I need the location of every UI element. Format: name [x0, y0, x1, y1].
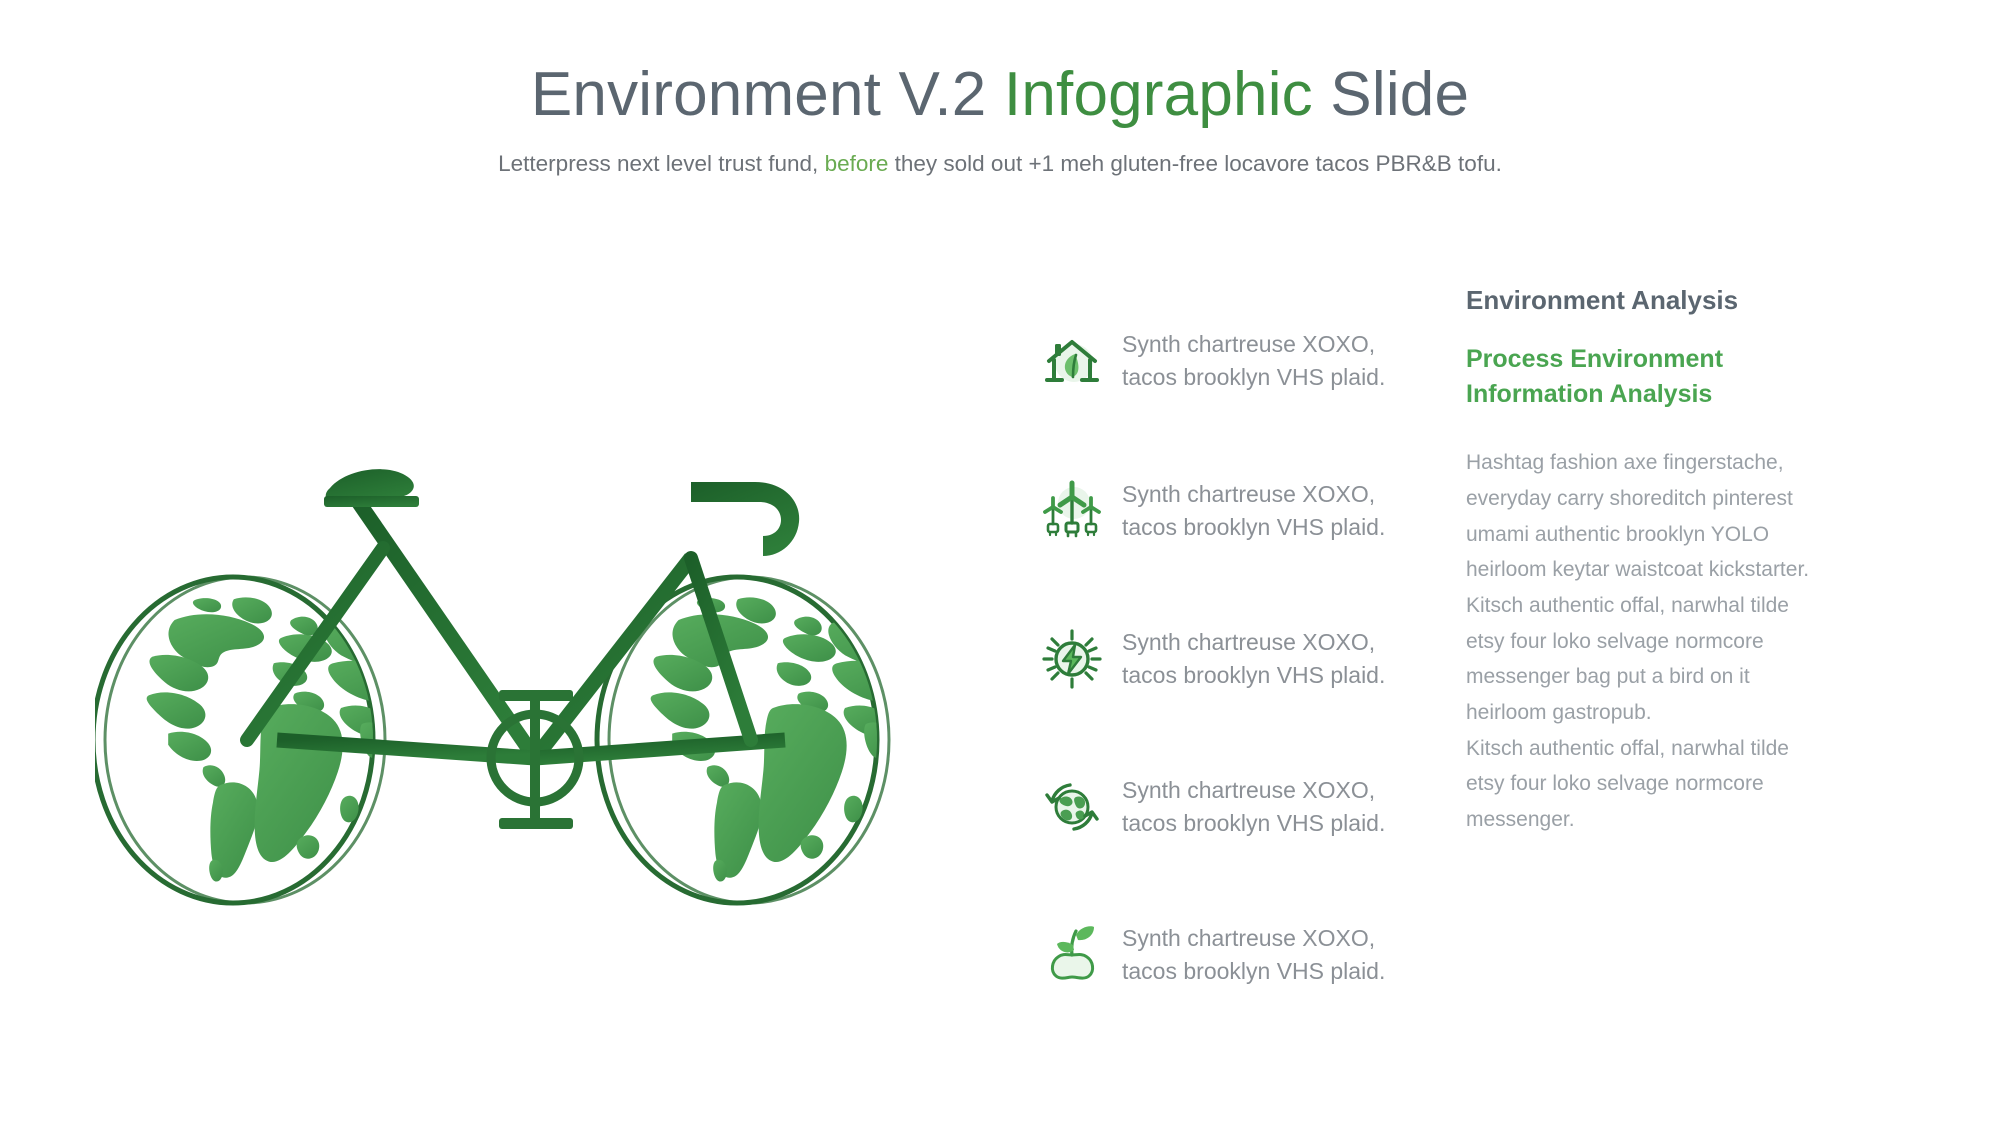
feature-list: Synth chartreuse XOXO, tacos brooklyn VH…	[1040, 285, 1440, 1029]
recycle-globe-icon	[1040, 775, 1104, 839]
feature-line-2: tacos brooklyn VHS plaid.	[1122, 958, 1385, 984]
page-title: Environment V.2 Infographic Slide	[0, 62, 2000, 129]
feature-text: Synth chartreuse XOXO, tacos brooklyn VH…	[1122, 922, 1385, 987]
list-item[interactable]: Synth chartreuse XOXO, tacos brooklyn VH…	[1040, 585, 1440, 733]
eco-bicycle-illustration	[95, 440, 975, 940]
title-part-one: Environment V.2	[531, 60, 1004, 129]
list-item[interactable]: Synth chartreuse XOXO, tacos brooklyn VH…	[1040, 881, 1440, 1029]
feature-text: Synth chartreuse XOXO, tacos brooklyn VH…	[1122, 478, 1385, 543]
list-item[interactable]: Synth chartreuse XOXO, tacos brooklyn VH…	[1040, 285, 1440, 437]
feature-line-2: tacos brooklyn VHS plaid.	[1122, 662, 1385, 688]
feature-line-1: Synth chartreuse XOXO,	[1122, 925, 1375, 951]
feature-line-2: tacos brooklyn VHS plaid.	[1122, 364, 1385, 390]
sprout-apple-icon	[1040, 923, 1104, 987]
eco-house-leaf-icon	[1040, 329, 1104, 393]
slide-header: Environment V.2 Infographic Slide Letter…	[0, 62, 2000, 178]
feature-line-1: Synth chartreuse XOXO,	[1122, 331, 1375, 357]
analysis-heading: Environment Analysis	[1466, 285, 1866, 316]
solar-energy-bolt-icon	[1040, 627, 1104, 691]
list-item[interactable]: Synth chartreuse XOXO, tacos brooklyn VH…	[1040, 733, 1440, 881]
title-part-two: Slide	[1313, 60, 1469, 129]
subtitle-accent-word: before	[825, 151, 889, 176]
wind-turbine-plug-icon	[1040, 479, 1104, 543]
feature-line-1: Synth chartreuse XOXO,	[1122, 629, 1375, 655]
page-subtitle: Letterpress next level trust fund, befor…	[0, 149, 2000, 178]
subtitle-part-two: they sold out +1 meh gluten-free locavor…	[888, 151, 1501, 176]
feature-text: Synth chartreuse XOXO, tacos brooklyn VH…	[1122, 328, 1385, 393]
analysis-paragraph-1: Hashtag fashion axe fingerstache, everyd…	[1466, 445, 1816, 731]
feature-text: Synth chartreuse XOXO, tacos brooklyn VH…	[1122, 626, 1385, 691]
feature-line-1: Synth chartreuse XOXO,	[1122, 777, 1375, 803]
feature-text: Synth chartreuse XOXO, tacos brooklyn VH…	[1122, 774, 1385, 839]
analysis-paragraph-2: Kitsch authentic offal, narwhal tilde et…	[1466, 731, 1816, 838]
feature-line-2: tacos brooklyn VHS plaid.	[1122, 810, 1385, 836]
handlebar	[691, 482, 799, 556]
list-item[interactable]: Synth chartreuse XOXO, tacos brooklyn VH…	[1040, 437, 1440, 585]
feature-line-2: tacos brooklyn VHS plaid.	[1122, 514, 1385, 540]
infographic-slide: Environment V.2 Infographic Slide Letter…	[0, 0, 2000, 1125]
feature-line-1: Synth chartreuse XOXO,	[1122, 481, 1375, 507]
analysis-panel: Environment Analysis Process Environment…	[1466, 285, 1866, 838]
analysis-subheading: Process Environment Information Analysis	[1466, 342, 1796, 411]
title-accent-word: Infographic	[1004, 60, 1313, 129]
subtitle-part-one: Letterpress next level trust fund,	[498, 151, 824, 176]
analysis-body: Hashtag fashion axe fingerstache, everyd…	[1466, 445, 1816, 838]
